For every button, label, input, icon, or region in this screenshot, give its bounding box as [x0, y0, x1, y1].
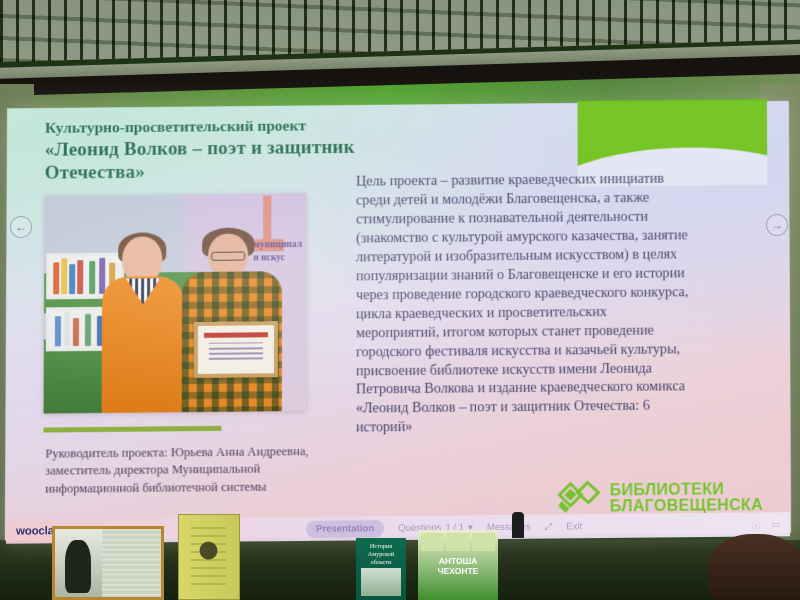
- shelf-book: [64, 312, 70, 346]
- shelf-book: [89, 261, 95, 294]
- award-certificate: [194, 321, 278, 378]
- award-photo: муниципал и искус: [44, 193, 307, 413]
- audience-member-head: [708, 534, 800, 600]
- book-title-chekhonte: АНТОША ЧЕХОНТЕ: [420, 556, 496, 576]
- exit-button[interactable]: Exit: [566, 521, 582, 532]
- display-book-amur-history: История Амурской области: [356, 538, 406, 600]
- portrait-text-block: [102, 529, 161, 597]
- panel: [446, 533, 469, 551]
- book-cover-image: [361, 568, 401, 596]
- room-scene: Культурно-просветительский проект «Леони…: [0, 0, 800, 600]
- shelf-book: [53, 262, 59, 294]
- display-icon[interactable]: ▭: [771, 519, 780, 530]
- projected-slide: Культурно-просветительский проект «Леони…: [5, 101, 791, 540]
- panel: [421, 533, 444, 551]
- certificate-paper: [198, 325, 274, 374]
- slide-body-text: Цель проекта – развитие краеведческих ин…: [356, 169, 693, 437]
- prev-slide-button[interactable]: ←: [10, 216, 32, 238]
- info-icon[interactable]: ⓘ: [751, 518, 760, 531]
- book-top-panels: [421, 533, 495, 551]
- framed-cossack-portrait: [52, 526, 164, 600]
- next-slide-button[interactable]: →: [766, 214, 788, 236]
- library-logo-text: БИБЛИОТЕКИ БЛАГОВЕЩЕНСКА: [610, 482, 763, 516]
- shelf-book: [55, 316, 61, 346]
- photo-person-left: [100, 236, 187, 413]
- book-title-amur: История Амурской области: [360, 543, 402, 566]
- photo-caption: Руководитель проекта: Юрьева Анна Андрее…: [45, 443, 346, 498]
- toolbar-right-group: ⓘ ▭: [751, 518, 780, 531]
- shelf-book: [85, 314, 91, 346]
- figurine-silhouette: [512, 512, 524, 538]
- portrait-photo: [55, 529, 102, 597]
- shelf-book: [61, 258, 67, 294]
- panel: [472, 533, 495, 551]
- shelf-book: [77, 260, 83, 294]
- display-book-chekhonte: АНТОША ЧЕХОНТЕ: [418, 530, 498, 600]
- shelf-book: [69, 264, 75, 294]
- display-book-illustrated: [178, 514, 240, 600]
- fullscreen-icon[interactable]: ⤢: [545, 521, 553, 532]
- glasses-icon: [211, 252, 245, 261]
- green-divider: [43, 426, 221, 433]
- presentation-tab[interactable]: Presentation: [306, 520, 384, 538]
- shelf-book: [73, 318, 79, 346]
- frame-inner: [55, 529, 161, 597]
